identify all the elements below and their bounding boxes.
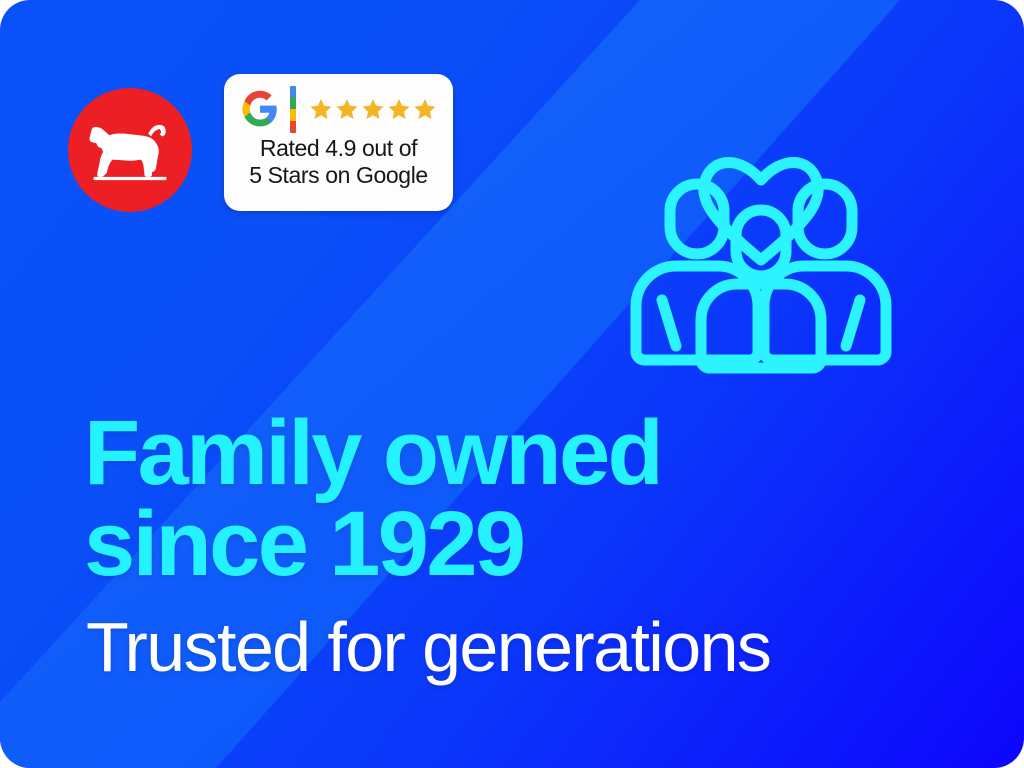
- person-arm-right: [846, 300, 860, 346]
- star-icon: [335, 97, 359, 121]
- star-rating: [309, 97, 437, 121]
- headline-line-2: since 1929: [84, 499, 661, 590]
- google-g-icon: [241, 90, 279, 128]
- google-rating-badge[interactable]: Rated 4.9 out of 5 Stars on Google: [224, 74, 453, 211]
- headline: Family owned since 1929: [84, 408, 661, 590]
- subheadline: Trusted for generations: [86, 612, 770, 682]
- dog-silhouette-icon: [82, 102, 178, 198]
- promo-banner: Rated 4.9 out of 5 Stars on Google: [0, 0, 1024, 768]
- headline-line-1: Family owned: [84, 408, 661, 499]
- badge-text-line-2: 5 Stars on Google: [249, 162, 428, 189]
- badge-top-row: [224, 87, 453, 131]
- dog-logo: [68, 88, 192, 212]
- star-icon: [387, 97, 411, 121]
- star-icon: [309, 97, 333, 121]
- google-color-divider-bar: [290, 86, 296, 133]
- family-with-heart-icon: [628, 84, 894, 376]
- badge-text-line-1: Rated 4.9 out of: [260, 135, 417, 162]
- star-icon: [361, 97, 385, 121]
- person-arm-left: [662, 300, 676, 346]
- star-icon: [413, 97, 437, 121]
